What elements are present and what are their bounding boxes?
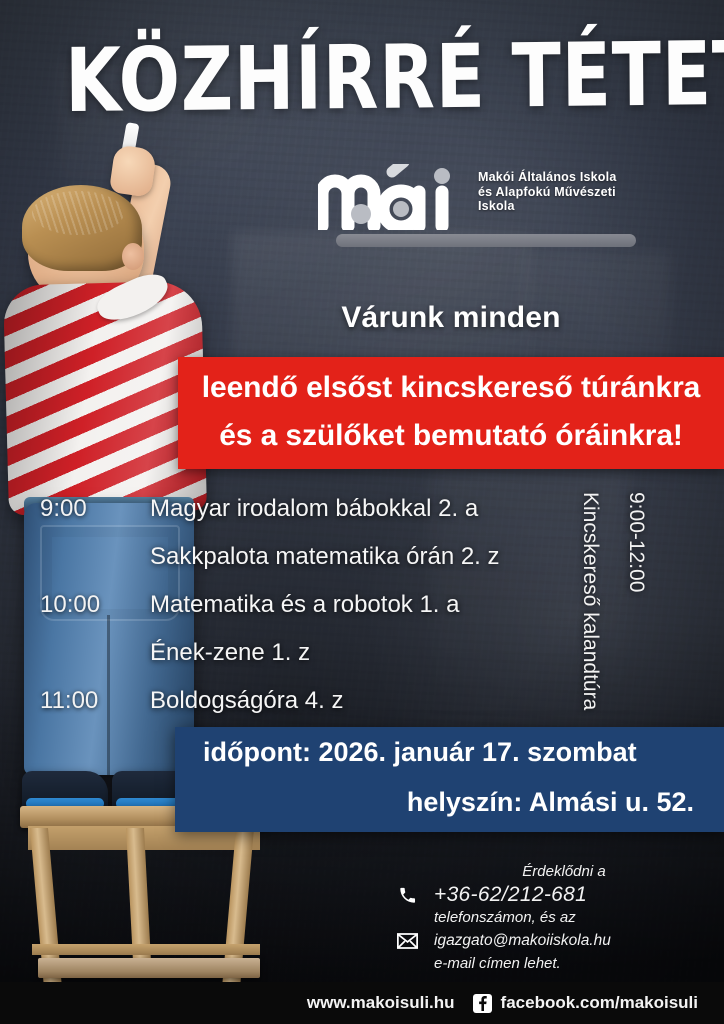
schedule-title: Magyar irodalom bábokkal 2. a: [150, 495, 478, 523]
schedule-time: 10:00: [40, 591, 150, 619]
facebook-icon: [473, 994, 492, 1013]
schedule-title: Sakkpalota matematika órán 2. z: [150, 543, 500, 571]
mai-wordmark-icon: [318, 164, 468, 230]
table-row: 9:00 Magyar irodalom bábokkal 2. a: [40, 495, 560, 543]
schedule-time: 9:00: [40, 495, 150, 523]
envelope-icon: [392, 933, 422, 949]
contact-intro: Érdeklődni a: [392, 862, 692, 882]
website-link[interactable]: www.makoisuli.hu: [307, 993, 455, 1013]
program-schedule: 9:00 Magyar irodalom bábokkal 2. a Sakkp…: [40, 495, 560, 735]
facebook-link[interactable]: facebook.com/makoisuli: [473, 993, 698, 1013]
schedule-title: Matematika és a robotok 1. a: [150, 591, 460, 619]
stool-step: [38, 958, 260, 978]
event-date: időpont: 2026. január 17. szombat: [175, 727, 724, 777]
phone-note: telefonszámon, és az: [392, 908, 692, 928]
hand: [109, 144, 157, 197]
schedule-title: Boldogságóra 4. z: [150, 687, 343, 715]
logo-underline: [336, 234, 636, 247]
adventure-tour-label: Kincskereső kalandtúra: [578, 492, 602, 710]
ear: [122, 243, 144, 270]
red-highlight-banner: leendő elsőst kincskereső túránkra és a …: [178, 357, 724, 469]
facebook-handle[interactable]: facebook.com/makoisuli: [501, 993, 698, 1013]
phone-row[interactable]: +36-62/212-681: [392, 882, 692, 908]
stool-rail: [32, 944, 260, 955]
school-logo: Makói Általános Iskola és Alapfokú Művés…: [318, 158, 648, 250]
phone-number[interactable]: +36-62/212-681: [434, 883, 587, 907]
email-note: e-mail címen lehet.: [392, 954, 692, 974]
red-banner-line-1: leendő elsőst kincskereső túránkra: [178, 364, 724, 412]
contact-block: Érdeklődni a +36-62/212-681 telefonszámo…: [392, 862, 692, 974]
table-row: Sakkpalota matematika órán 2. z: [40, 543, 560, 591]
schedule-title: Ének-zene 1. z: [150, 639, 310, 667]
table-row: 10:00 Matematika és a robotok 1. a: [40, 591, 560, 639]
event-details-box: időpont: 2026. január 17. szombat helysz…: [175, 727, 724, 832]
page-title: KÖZHÍRRÉ TÉTETIK: [65, 27, 659, 129]
email-address[interactable]: igazgato@makoiiskola.hu: [434, 932, 611, 950]
footer-bar: www.makoisuli.hu facebook.com/makoisuli: [0, 982, 724, 1024]
table-row: Ének-zene 1. z: [40, 639, 560, 687]
school-name: Makói Általános Iskola és Alapfokú Művés…: [478, 170, 650, 214]
phone-icon: [392, 886, 422, 905]
red-banner-line-2: és a szülőket bemutató óráinkra!: [178, 412, 724, 460]
invitation-lead: Várunk minden: [178, 300, 724, 336]
email-row[interactable]: igazgato@makoiiskola.hu: [392, 928, 692, 954]
poster-canvas: KÖZHÍRRÉ TÉTETIK Makói Általános Iskola: [0, 0, 724, 1024]
event-venue: helyszín: Almási u. 52.: [175, 777, 724, 827]
adventure-tour-hours: 9:00-12:00: [624, 492, 648, 592]
stool-leg: [126, 828, 152, 978]
schedule-time: 11:00: [40, 687, 150, 715]
